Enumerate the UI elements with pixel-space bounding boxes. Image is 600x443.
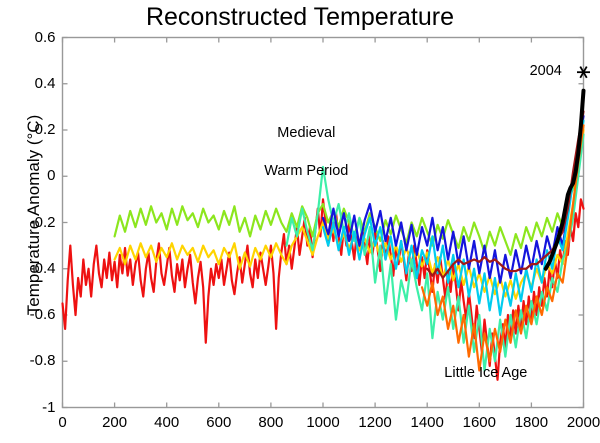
x-tick-label: 2000: [554, 415, 600, 430]
x-tick-label: 800: [241, 415, 301, 430]
x-tick-label: 1800: [501, 415, 561, 430]
x-tick-label: 200: [85, 415, 145, 430]
y-tick-label: -1: [1, 400, 56, 415]
annotation-little-ice-age: Little Ice Age: [406, 364, 566, 383]
y-tick-label: 0: [1, 168, 56, 183]
annotation-year-2004: 2004: [496, 62, 596, 81]
x-tick-label: 600: [189, 415, 249, 430]
x-tick-label: 1400: [397, 415, 457, 430]
x-tick-label: 1200: [345, 415, 405, 430]
x-tick-label: 1600: [449, 415, 509, 430]
chart-figure: Reconstructed Temperature Temperature An…: [0, 0, 600, 443]
y-tick-label: -0.2: [1, 215, 56, 230]
x-tick-label: 400: [137, 415, 197, 430]
x-tick-label: 1000: [293, 415, 353, 430]
annotation-medieval-line2: Warm Period: [264, 163, 348, 179]
y-tick-label: -0.6: [1, 307, 56, 322]
y-tick-label: 0.4: [1, 76, 56, 91]
y-tick-label: 0.2: [1, 122, 56, 137]
annotation-medieval-line1: Medieval: [277, 125, 335, 141]
y-tick-label: -0.4: [1, 261, 56, 276]
y-tick-label: 0.6: [1, 30, 56, 45]
x-tick-label: 0: [33, 415, 93, 430]
y-tick-label: -0.8: [1, 353, 56, 368]
annotation-medieval-warm-period: Medieval Warm Period: [218, 105, 378, 200]
